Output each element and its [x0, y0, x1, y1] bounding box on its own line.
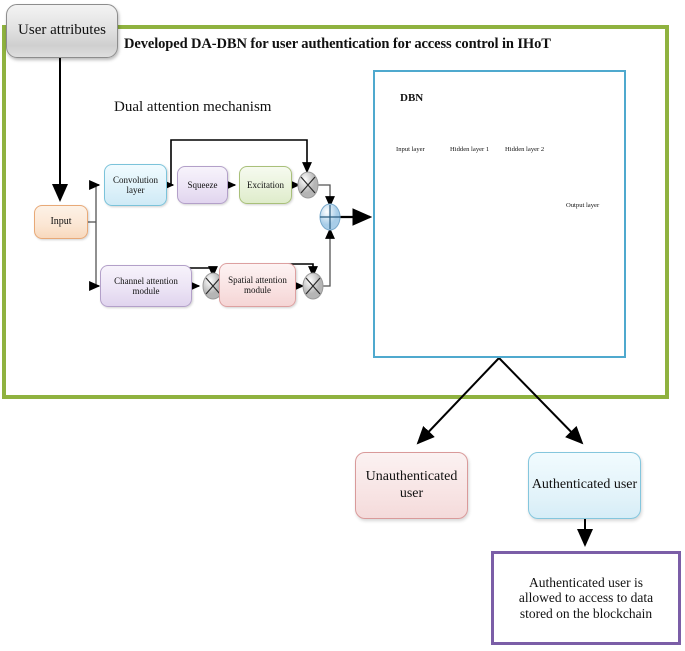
input-label: Input [50, 216, 71, 228]
excitation-box[interactable]: Excitation [239, 166, 292, 204]
user-attributes-box[interactable]: User attributes [6, 4, 118, 58]
unauthenticated-user-label: Unauthenticated user [356, 469, 467, 501]
output-layer-label: Output layer [566, 202, 599, 209]
convolution-layer-label: Convolution layer [105, 175, 166, 196]
dbn-title: DBN [400, 92, 423, 104]
input-box[interactable]: Input [34, 205, 88, 239]
dual-attention-section-label: Dual attention mechanism [114, 99, 271, 116]
input-layer-label: Input layer [396, 146, 425, 153]
channel-attention-module-box[interactable]: Channel attention module [100, 265, 192, 307]
channel-attention-label: Channel attention module [101, 276, 191, 297]
result-line-1: Authenticated user is [519, 575, 653, 591]
squeeze-label: Squeeze [188, 180, 218, 190]
spatial-attention-label: Spatial attention module [220, 275, 295, 296]
result-line-2: allowed to access to data [519, 590, 653, 606]
convolution-layer-box[interactable]: Convolution layer [104, 164, 167, 206]
spatial-attention-module-box[interactable]: Spatial attention module [219, 263, 296, 307]
result-line-3: stored on the blockchain [519, 606, 653, 622]
result-box: Authenticated user is allowed to access … [491, 551, 681, 645]
hidden-layer-2-label: Hidden layer 2 [505, 146, 544, 153]
hidden-layer-1-label: Hidden layer 1 [450, 146, 489, 153]
diagram-canvas: User attributes Developed DA-DBN for use… [0, 0, 685, 651]
authenticated-user-box[interactable]: Authenticated user [528, 452, 641, 519]
unauthenticated-user-box[interactable]: Unauthenticated user [355, 452, 468, 519]
user-attributes-label: User attributes [18, 22, 106, 39]
dbn-panel [373, 70, 626, 358]
excitation-label: Excitation [247, 180, 284, 190]
authenticated-user-label: Authenticated user [532, 477, 637, 493]
squeeze-box[interactable]: Squeeze [177, 166, 228, 204]
page-title: Developed DA-DBN for user authentication… [124, 36, 551, 53]
